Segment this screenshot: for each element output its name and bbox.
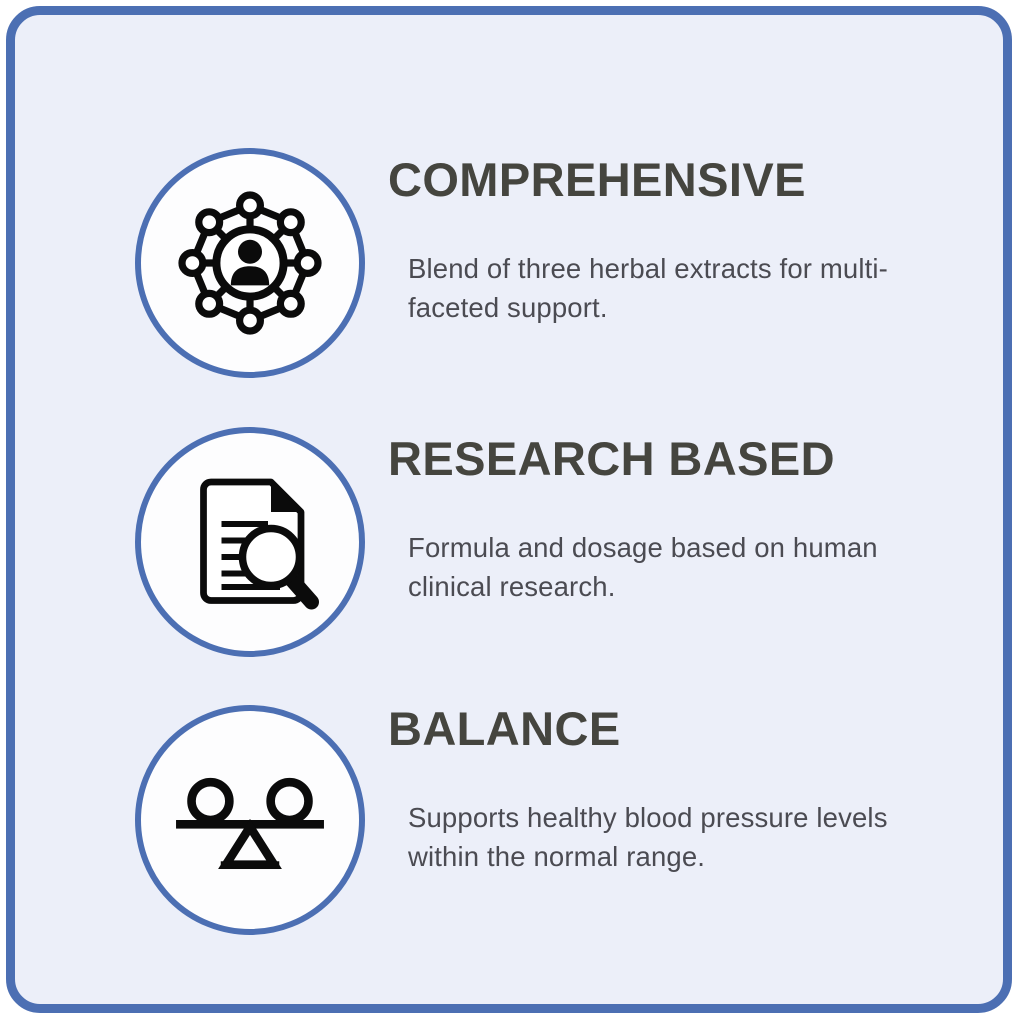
network-person-icon xyxy=(170,183,330,343)
feature-description: Blend of three herbal extracts for multi… xyxy=(408,249,928,327)
feature-icon-badge xyxy=(135,148,365,378)
feature-icon-badge xyxy=(135,705,365,935)
feature-title: RESEARCH BASED xyxy=(388,435,963,482)
balance-scale-icon xyxy=(164,734,336,906)
feature-highlights-card: COMPREHENSIVE Blend of three herbal extr… xyxy=(0,0,1023,1024)
feature-text: COMPREHENSIVE Blend of three herbal extr… xyxy=(388,156,963,327)
feature-text: RESEARCH BASED Formula and dosage based … xyxy=(388,435,963,606)
feature-description: Formula and dosage based on human clinic… xyxy=(408,528,928,606)
feature-text: BALANCE Supports healthy blood pressure … xyxy=(388,705,963,876)
document-magnifier-icon xyxy=(175,467,325,617)
card-frame: COMPREHENSIVE Blend of three herbal extr… xyxy=(6,6,1012,1013)
feature-description: Supports healthy blood pressure levels w… xyxy=(408,798,928,876)
feature-icon-badge xyxy=(135,427,365,657)
feature-title: COMPREHENSIVE xyxy=(388,156,963,203)
feature-list: COMPREHENSIVE Blend of three herbal extr… xyxy=(15,15,1003,1004)
feature-title: BALANCE xyxy=(388,705,963,752)
